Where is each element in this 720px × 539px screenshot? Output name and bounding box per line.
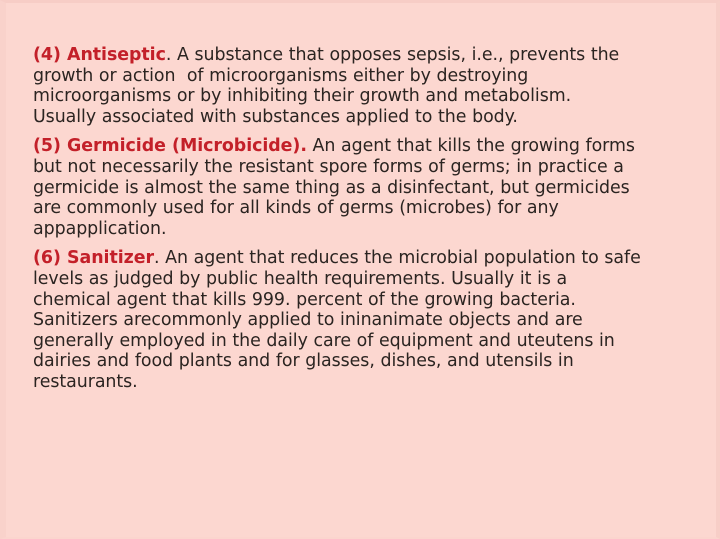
paragraph-germicide: (5) Germicide (Microbicide). An agent th… [33,136,691,239]
paragraph-antiseptic-text-1: . A substance that opposes sepsis, i.e.,… [166,45,619,65]
paragraph-sanitizer-line-5: generally employed in the daily care of … [33,331,691,352]
slide-canvas: (4) Antiseptic. A substance that opposes… [0,0,720,539]
paragraph-sanitizer-line-4: Sanitizers arecommonly applied to ininan… [33,310,691,331]
paragraph-germicide-line-5: appapplication. [33,219,691,240]
paragraph-sanitizer-line-7: restaurants. [33,372,691,393]
paragraph-sanitizer-line-6: dairies and food plants and for glasses,… [33,351,691,372]
paragraph-antiseptic-line-3: microorganisms or by inhibiting their gr… [33,86,691,107]
term-label-germicide: (5) Germicide (Microbicide). [33,136,307,156]
paragraph-sanitizer-line-2: levels as judged by public health requir… [33,269,691,290]
paragraph-sanitizer: (6) Sanitizer. An agent that reduces the… [33,248,691,392]
paragraph-antiseptic-line-1: (4) Antiseptic. A substance that opposes… [33,45,691,66]
paragraph-germicide-line-1: (5) Germicide (Microbicide). An agent th… [33,136,691,157]
paragraph-sanitizer-text-1: . An agent that reduces the microbial po… [154,248,641,268]
paragraph-sanitizer-line-3: chemical agent that kills 999. percent o… [33,290,691,311]
paragraph-germicide-line-3: germicide is almost the same thing as a … [33,178,691,199]
paragraph-antiseptic-line-4: Usually associated with substances appli… [33,107,691,128]
paragraph-antiseptic: (4) Antiseptic. A substance that opposes… [33,45,691,127]
paragraph-sanitizer-line-1: (6) Sanitizer. An agent that reduces the… [33,248,691,269]
paragraph-antiseptic-line-2: growth or action of microorganisms eithe… [33,66,691,87]
term-label-sanitizer: (6) Sanitizer [33,248,154,268]
term-label-antiseptic: (4) Antiseptic [33,45,166,65]
paragraph-germicide-text-1: An agent that kills the growing forms [307,136,635,156]
slide-text-body: (4) Antiseptic. A substance that opposes… [33,45,691,393]
paragraph-germicide-line-4: are commonly used for all kinds of germs… [33,198,691,219]
paragraph-germicide-line-2: but not necessarily the resistant spore … [33,157,691,178]
